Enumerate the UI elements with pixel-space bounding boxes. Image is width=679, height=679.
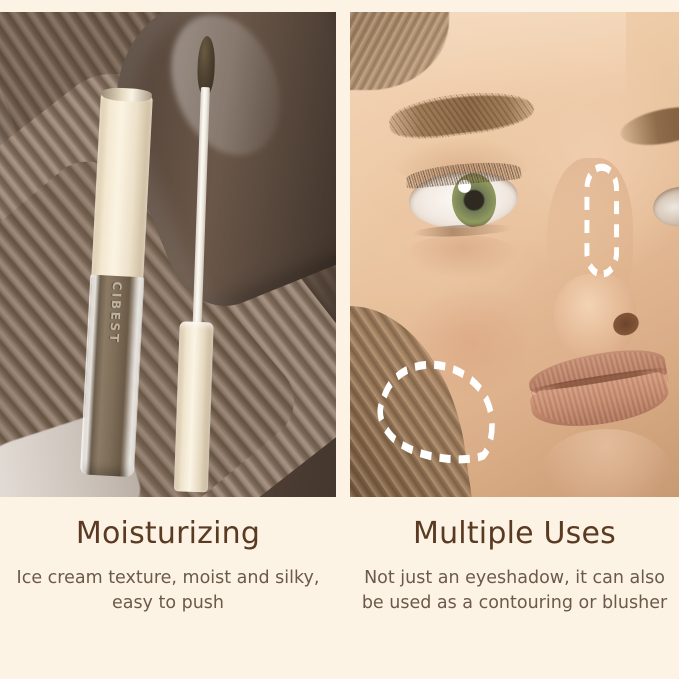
panel-heading: Multiple Uses (350, 517, 679, 550)
product-feature-page: CIBEST Moisturizing Ice cream texture, m… (0, 0, 679, 679)
under-eye-area (403, 235, 521, 279)
wand-stick (193, 86, 210, 330)
model-face-photo[interactable] (350, 12, 679, 497)
wand-cap (175, 321, 215, 493)
caption-moisturizing: Moisturizing Ice cream texture, moist an… (0, 497, 336, 617)
panel-moisturizing: CIBEST Moisturizing Ice cream texture, m… (0, 0, 336, 679)
caption-multiple-uses: Multiple Uses Not just an eyeshadow, it … (350, 497, 679, 617)
panel-body-text: Ice cream texture, moist and silky, easy… (15, 566, 321, 617)
product-tube-photo[interactable]: CIBEST (0, 12, 336, 497)
panel-multiple-uses: Multiple Uses Not just an eyeshadow, it … (350, 0, 679, 679)
panel-heading: Moisturizing (0, 517, 336, 550)
panel-body-text: Not just an eyeshadow, it can also be us… (359, 566, 671, 617)
tube-cap (91, 93, 153, 281)
tube-body-glass-edge (80, 275, 144, 478)
